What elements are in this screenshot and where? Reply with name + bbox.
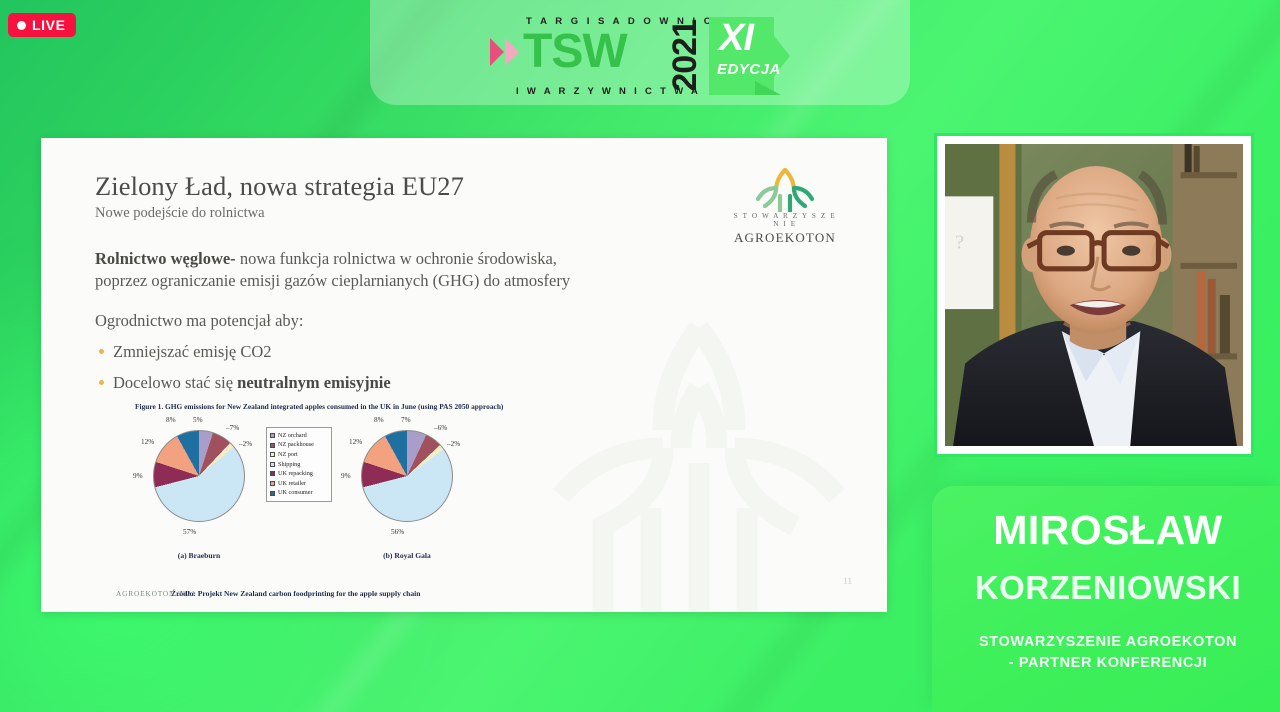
speaker-name-plaque: MIROSŁAW KORZENIOWSKI STOWARZYSZENIE AGR…	[932, 486, 1280, 712]
tsw-footer-text: I W A R Z Y W N I C T W A	[516, 86, 701, 97]
slide-page-number: 11	[843, 576, 852, 586]
edition-roman: XI	[719, 19, 753, 57]
bullet-dot-icon	[99, 349, 104, 354]
legend-item: UK retailer	[270, 479, 328, 489]
legend-swatch	[270, 433, 275, 438]
legend-item: UK repacking	[270, 469, 328, 479]
pie-chart-title: (a) Braeburn	[135, 551, 263, 560]
speaker-org-line-1: STOWARZYSZENIE AGROEKOTON	[954, 632, 1262, 653]
live-badge: LIVE	[8, 13, 76, 37]
pie-value-label: 12%	[141, 438, 154, 446]
bullet-text: Zmniejszać emisję CO2	[113, 342, 272, 362]
paragraph-rest: nowa funkcja rolnictwa w ochronie środow…	[236, 249, 557, 268]
pie-chart-royal-gala: 7% –6% –2% 56% 9% 12% 8% (b) Royal Gala	[343, 418, 471, 546]
bullet-text-plain: Docelowo stać się	[113, 373, 237, 392]
pie-value-label: 56%	[391, 528, 404, 536]
legend-label: NZ packhouse	[278, 440, 314, 450]
pie-value-label: 7%	[401, 416, 411, 424]
record-dot-icon	[17, 21, 26, 30]
triangle-icon	[505, 38, 519, 66]
legend-swatch	[270, 471, 275, 476]
tsw-year: 2021	[668, 20, 702, 92]
legend-swatch	[270, 481, 275, 486]
legend-swatch	[270, 452, 275, 457]
webcam-frame: ?	[934, 133, 1254, 457]
legend-label: UK retailer	[278, 479, 306, 489]
speaker-org-line-2: - PARTNER KONFERENCJI	[954, 653, 1262, 674]
legend-swatch	[270, 491, 275, 496]
paragraph-bold-lead: Rolnictwo węglowe-	[95, 249, 236, 268]
pie-value-label: –2%	[447, 440, 460, 448]
legend-label: UK repacking	[278, 469, 313, 479]
speaker-organization: STOWARZYSZENIE AGROEKOTON - PARTNER KONF…	[954, 632, 1262, 674]
pie-value-label: 9%	[133, 472, 143, 480]
tsw-wordmark: TSW	[523, 30, 627, 74]
pie-value-label: 57%	[183, 528, 196, 536]
pie-legend: NZ orchard NZ packhouse NZ port Shipping…	[266, 427, 332, 502]
speaker-last-name: KORZENIOWSKI	[954, 568, 1262, 608]
charts-row: 5% –7% –2% 57% 9% 12% 8% (a) Braeburn NZ…	[135, 418, 523, 546]
edition-label: EDYCJA	[717, 61, 781, 78]
list-item: Zmniejszać emisję CO2	[95, 342, 847, 362]
webcam-inner-border: ?	[937, 136, 1251, 454]
pie-value-label: 8%	[374, 416, 384, 424]
pie-value-label: –7%	[226, 424, 239, 432]
presentation-slide: Zielony Ład, nowa strategia EU27 Nowe po…	[41, 138, 887, 612]
figure-block: Figure 1. GHG emissions for New Zealand …	[135, 402, 523, 582]
edition-badge: XI EDYCJA	[709, 17, 790, 95]
pie-value-label: –2%	[239, 440, 252, 448]
bullet-text-bold: neutralnym emisyjnie	[237, 373, 391, 392]
triangle-icon	[490, 38, 504, 66]
speaker-video-feed[interactable]: ?	[945, 144, 1243, 446]
legend-item: NZ packhouse	[270, 440, 328, 450]
tsw-logo: T A R G I S A D O W N I C T W A TSW 2021…	[490, 14, 790, 98]
svg-text:?: ?	[955, 232, 964, 254]
legend-swatch	[270, 443, 275, 448]
legend-label: Shipping	[278, 460, 300, 470]
body-question: Ogrodnictwo ma potencjał aby:	[95, 311, 847, 331]
pie-value-label: –6%	[434, 424, 447, 432]
bullet-text: Docelowo stać się neutralnym emisyjnie	[113, 373, 391, 393]
page-subtitle: Nowe podejście do rolnictwa	[95, 205, 847, 222]
legend-label: UK consumer	[278, 488, 313, 498]
pie-disc	[361, 430, 453, 522]
broadcast-stage: LIVE T A R G I S A D O W N I C T W A TSW…	[0, 0, 1280, 712]
pie-value-label: 5%	[193, 416, 203, 424]
pie-value-label: 12%	[349, 438, 362, 446]
legend-label: NZ port	[278, 450, 298, 460]
bullet-dot-icon	[99, 380, 104, 385]
notch-shape-icon	[755, 81, 781, 95]
list-item: Docelowo stać się neutralnym emisyjnie	[95, 373, 847, 393]
paragraph-line-2: poprzez ograniczanie emisji gazów ciepla…	[95, 270, 847, 292]
legend-item: NZ port	[270, 450, 328, 460]
legend-label: NZ orchard	[278, 431, 307, 441]
legend-item: NZ orchard	[270, 431, 328, 441]
speaker-portrait-image: ?	[945, 144, 1243, 446]
live-label: LIVE	[32, 18, 66, 32]
arrow-shape-icon	[764, 23, 790, 89]
pie-chart-braeburn: 5% –7% –2% 57% 9% 12% 8% (a) Braeburn	[135, 418, 263, 546]
pie-disc	[153, 430, 245, 522]
pie-value-label: 9%	[341, 472, 351, 480]
legend-item: Shipping	[270, 460, 328, 470]
speaker-first-name: MIROSŁAW	[954, 508, 1262, 552]
page-title: Zielony Ład, nowa strategia EU27	[95, 172, 847, 201]
figure-caption: Figure 1. GHG emissions for New Zealand …	[135, 402, 523, 413]
legend-item: UK consumer	[270, 488, 328, 498]
body-paragraph: Rolnictwo węglowe- nowa funkcja rolnictw…	[95, 248, 847, 293]
slide-footer: AGROEKOTON 2021	[116, 589, 196, 598]
figure-source: Źródło: Projekt New Zealand carbon foodp…	[171, 589, 421, 598]
pie-chart-title: (b) Royal Gala	[343, 551, 471, 560]
pie-value-label: 8%	[166, 416, 176, 424]
legend-swatch	[270, 462, 275, 467]
